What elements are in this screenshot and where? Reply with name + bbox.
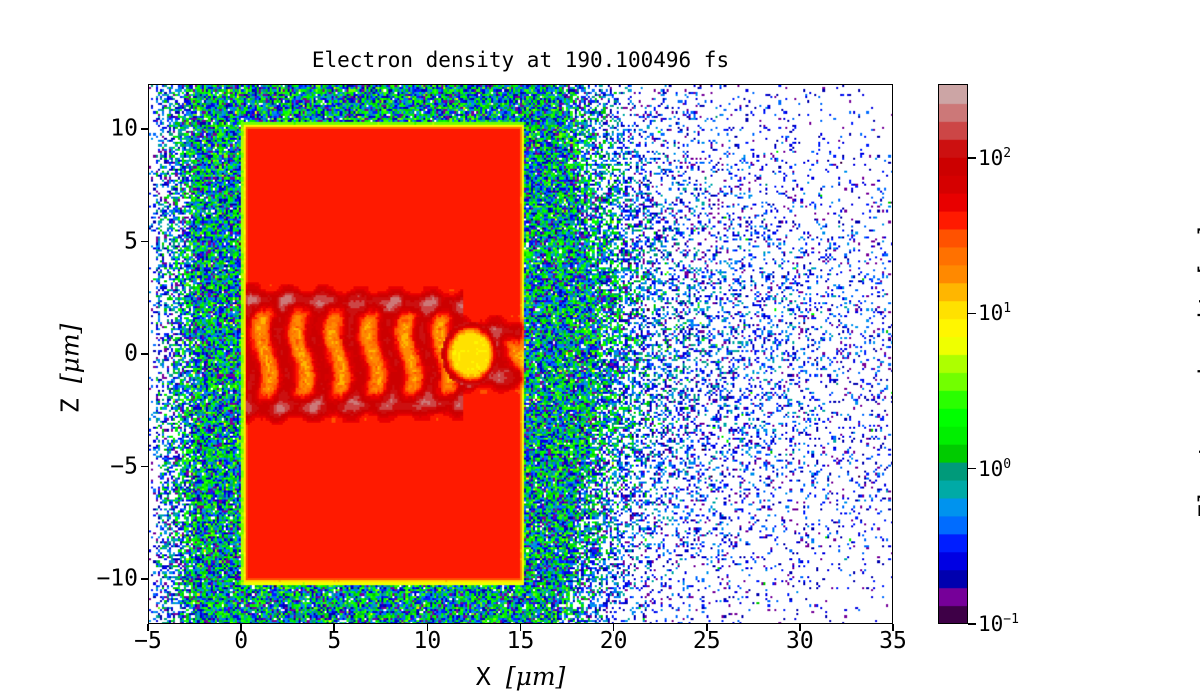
colorbar-label: Electron_density[nc]	[1194, 101, 1200, 641]
y-tick-label: −10	[96, 568, 138, 591]
x-axis-label: X [μm]	[148, 662, 893, 691]
x-tick-label: 0	[234, 630, 248, 653]
colorbar-tick-base: 10	[978, 612, 1003, 636]
colorbar-tick-exponent: 2	[1003, 146, 1011, 161]
colorbar-canvas	[939, 85, 967, 623]
y-tick-label: 0	[124, 343, 138, 366]
colorbar-tick-mark	[968, 623, 976, 625]
x-axis-label-unit: [μm]	[506, 662, 565, 691]
y-tick-label: 5	[124, 230, 138, 253]
y-tick-mark	[141, 353, 148, 355]
colorbar-tick-label: 101	[978, 301, 1011, 325]
colorbar-tick-label: 10−1	[978, 612, 1019, 636]
x-tick-label: 30	[786, 630, 814, 653]
colorbar-tick-mark	[968, 157, 976, 159]
colorbar-tick-mark	[968, 313, 976, 315]
x-tick-label: 25	[693, 630, 721, 653]
colorbar-tick-base: 10	[978, 146, 1003, 170]
x-tick-label: 20	[600, 630, 628, 653]
y-tick-mark	[141, 578, 148, 580]
colorbar	[938, 84, 968, 624]
colorbar-tick-exponent: 0	[1003, 457, 1011, 472]
colorbar-label-bracket-open: [	[1194, 262, 1200, 277]
colorbar-tick-label: 100	[978, 457, 1011, 481]
colorbar-tick-base: 10	[978, 457, 1003, 481]
colorbar-label-bracket-close: ]	[1194, 223, 1200, 238]
x-tick-label: 10	[414, 630, 442, 653]
colorbar-tick-base: 10	[978, 301, 1003, 325]
x-axis-label-text: X	[476, 662, 491, 691]
x-tick-label: 5	[327, 630, 341, 653]
plot-title: Electron density at 190.100496 fs	[148, 48, 893, 72]
plot-area	[148, 84, 893, 624]
colorbar-label-text: Electron_density	[1194, 278, 1200, 519]
colorbar-tick-exponent: −1	[1003, 612, 1019, 627]
colorbar-gradient	[938, 84, 968, 624]
x-tick-label: 35	[879, 630, 907, 653]
y-axis-label-unit: [μm]	[56, 324, 85, 383]
y-axis-label-text: Z	[56, 398, 85, 413]
density-heatmap	[149, 85, 892, 623]
colorbar-tick-label: 102	[978, 146, 1011, 170]
figure-canvas: Electron density at 190.100496 fs −50510…	[0, 0, 1200, 700]
x-tick-label: −5	[134, 630, 162, 653]
y-axis-label: Z [μm]	[56, 239, 85, 499]
y-tick-label: −5	[110, 455, 138, 478]
colorbar-tick-mark	[968, 468, 976, 470]
colorbar-label-symbol: n	[1194, 246, 1200, 262]
x-tick-label: 15	[507, 630, 535, 653]
y-tick-label: 10	[110, 118, 138, 141]
y-tick-mark	[141, 466, 148, 468]
colorbar-tick-exponent: 1	[1003, 301, 1011, 316]
y-tick-mark	[141, 241, 148, 243]
y-tick-mark	[141, 128, 148, 130]
